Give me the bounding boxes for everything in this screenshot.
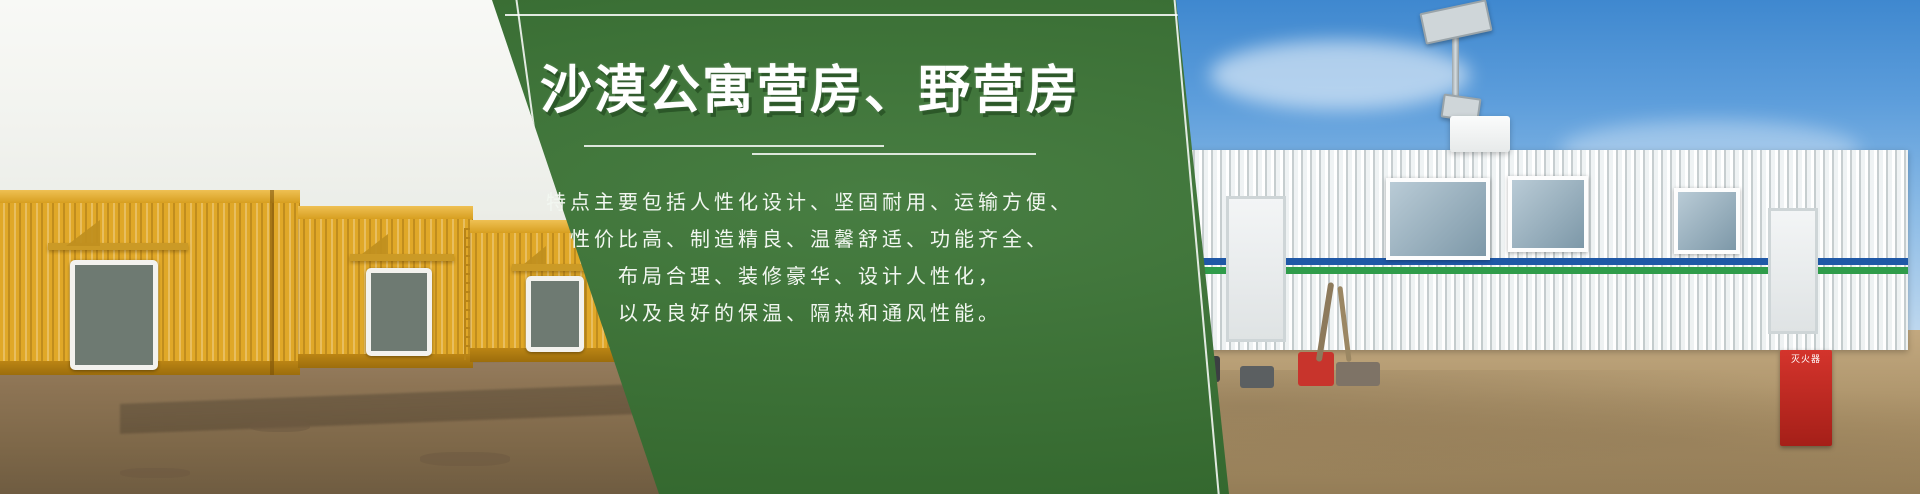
container-base-edge <box>298 354 473 368</box>
ground-rubble <box>120 468 190 478</box>
container-roof-edge <box>298 206 473 219</box>
description-line: 布局合理、装修豪华、设计人性化， <box>546 258 1074 295</box>
ground-rubble <box>420 452 510 466</box>
description-line: 以及良好的保温、隔热和通风性能。 <box>546 295 1074 332</box>
banner-title: 沙漠公寓营房、野营房 <box>540 62 1080 120</box>
fire-cabinet-label: 灭火器 <box>1780 350 1832 365</box>
container-unit <box>0 190 300 375</box>
fire-extinguisher-cabinet: 灭火器 <box>1780 350 1832 446</box>
roof-vent-unit <box>1450 116 1510 152</box>
ground-debris <box>1240 366 1274 388</box>
panel-seam <box>270 190 274 375</box>
container-window <box>70 260 158 370</box>
description-line: 性价比高、制造精良、温馨舒适、功能齐全、 <box>546 221 1074 258</box>
building-window <box>1386 178 1490 260</box>
container-roof-edge <box>0 190 300 203</box>
building-door <box>1226 196 1286 342</box>
building-door <box>1768 208 1818 334</box>
building-window <box>1508 176 1588 252</box>
banner-text-block: 沙漠公寓营房、野营房 特点主要包括人性化设计、坚固耐用、运输方便、 性价比高、制… <box>530 0 1090 494</box>
cloud <box>1210 40 1470 110</box>
awning-bracket <box>362 234 388 254</box>
building-window <box>1674 188 1740 254</box>
awning-bracket <box>66 220 100 246</box>
white-container-building <box>1118 150 1908 350</box>
divider-line-lower <box>752 153 1036 155</box>
ground-debris <box>1336 362 1380 386</box>
description-line: 特点主要包括人性化设计、坚固耐用、运输方便、 <box>546 184 1074 221</box>
divider-line-upper <box>584 145 884 147</box>
window-awning <box>350 254 454 261</box>
banner-description: 特点主要包括人性化设计、坚固耐用、运输方便、 性价比高、制造精良、温馨舒适、功能… <box>546 184 1074 332</box>
ground-rubble <box>250 420 310 432</box>
title-divider <box>584 142 1036 158</box>
container-unit <box>298 206 473 368</box>
container-window <box>366 268 432 356</box>
promo-banner: 灭火器 沙漠公寓营房、野营房 特点主要包括人性化设计、坚固耐用、运输方便、 性价… <box>0 0 1920 494</box>
